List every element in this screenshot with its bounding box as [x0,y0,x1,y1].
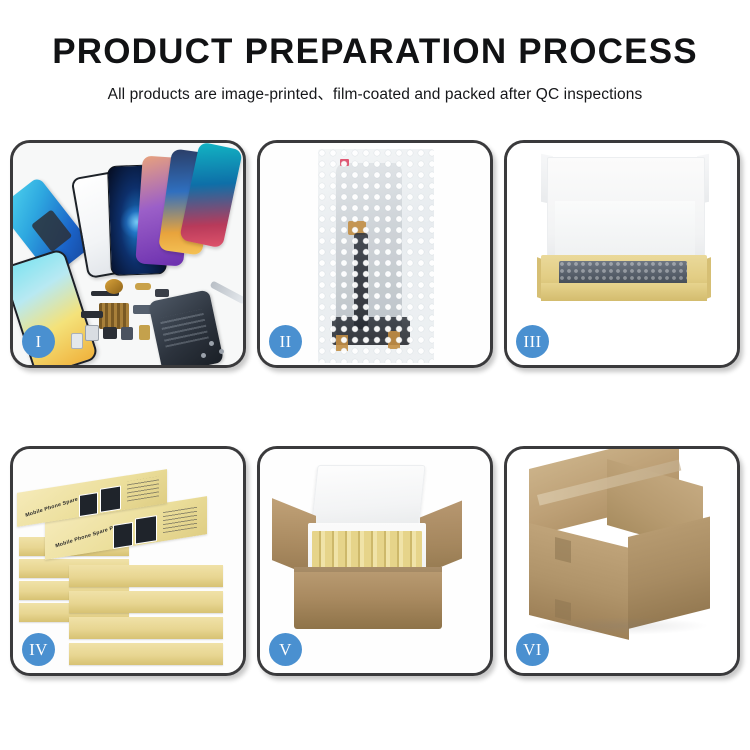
page-subtitle: All products are image-printed、film-coat… [0,82,750,104]
retail-box-stacked [69,643,223,665]
spare-part-flex-icon [81,311,103,318]
step-badge-4: IV [22,633,55,666]
retail-box-window-icon [113,522,133,549]
carton-side-face-icon [628,517,710,629]
retail-box-spec-lines [127,476,159,501]
screw-icon [201,353,206,358]
phone-motherboard-icon [148,289,224,365]
screw-icon [219,349,224,354]
tweezers-icon [210,280,243,304]
spare-part-button-icon [103,327,117,339]
process-step-panel-2[interactable]: II [257,140,493,368]
process-step-panel-4[interactable]: Mobile Phone Spare Parts Mobile Phone Sp… [10,446,246,676]
page-title: PRODUCT PREPARATION PROCESS [0,34,750,69]
retail-box-stacked [69,565,223,587]
step-badge-2: II [269,325,302,358]
process-step-panel-1[interactable]: I [10,140,246,368]
spare-part-screw-tray-icon [99,303,129,329]
spare-part-module-icon [121,327,133,340]
spare-part-sensor-icon [71,333,83,349]
process-step-panel-3[interactable]: III [504,140,740,368]
bubble-wrap-bag-icon [318,149,434,363]
step-badge-5: V [269,633,302,666]
process-steps-grid: I II [0,140,750,676]
carton-shadow [533,617,709,635]
spare-part-connector-icon [135,283,151,290]
screw-icon [209,341,214,346]
retail-box-window-icon [100,485,121,512]
process-step-panel-6[interactable]: VI [504,446,740,676]
process-step-panel-5[interactable]: V [257,446,493,676]
step-badge-1: I [22,325,55,358]
yellow-box-front-icon [541,283,707,301]
retail-box-window-icon [135,515,157,544]
page-header: PRODUCT PREPARATION PROCESS All products… [0,0,750,104]
spare-part-camera-icon [105,279,123,294]
carton-flap-seam-icon [555,537,571,563]
spare-part-sim-tray-icon [85,325,99,341]
spare-part-ic-icon [155,289,169,297]
spare-part-gold-contact-icon [139,325,150,340]
cardboard-carton-icon [294,567,442,629]
bubble-texture-icon [318,149,434,363]
retail-box-spec-lines [163,506,197,533]
box-inner-wall-icon [555,201,695,263]
retail-box-stacked [69,591,223,613]
retail-box-stacked [69,617,223,639]
step-badge-3: III [516,325,549,358]
step-badge-6: VI [516,633,549,666]
carton-flap-right-icon [420,501,462,576]
retail-box-window-icon [79,492,98,517]
